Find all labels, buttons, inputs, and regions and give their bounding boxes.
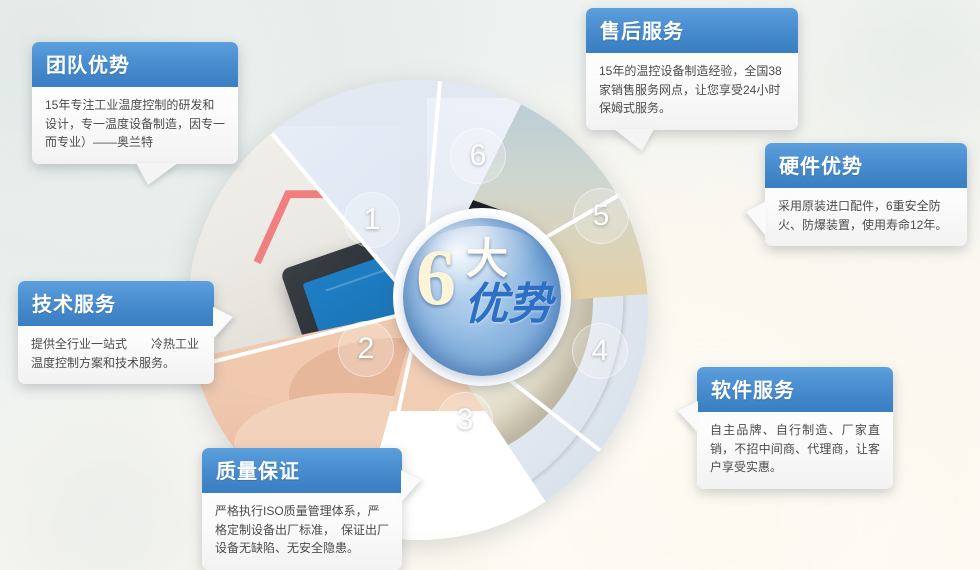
segment-number-5[interactable]: 5 xyxy=(573,188,629,244)
card-software-service[interactable]: 软件服务 自主品牌、自行制造、厂家直销，不招中间商、代理商，让客户享受实惠。 xyxy=(697,367,893,489)
card-tail xyxy=(401,470,421,502)
card-after-sales-body: 15年的温控设备制造经验，全国38家销售服务网点，让您享受24小时保姆式服务。 xyxy=(586,53,798,130)
card-quality-body: 严格执行ISO质量管理体系，严格定制设备出厂标准， 保证出厂设备无缺陷、无安全隐… xyxy=(202,493,402,570)
card-hardware-title: 硬件优势 xyxy=(765,143,967,188)
card-technical-service[interactable]: 技术服务 提供全行业一站式 冷热工业温度控制方案和技术服务。 xyxy=(18,281,214,384)
center-number: 6 xyxy=(416,238,456,318)
segment-number-4[interactable]: 4 xyxy=(572,323,628,379)
card-team-body: 15年专注工业温度控制的研发和设计，专一温度设备制造，因专一而专业）——奥兰特 xyxy=(32,87,238,164)
card-tail xyxy=(136,163,178,185)
card-team-advantage[interactable]: 团队优势 15年专注工业温度控制的研发和设计，专一温度设备制造，因专一而专业）—… xyxy=(32,42,238,164)
center-word-label: 优势 xyxy=(464,283,552,327)
segment-number-1[interactable]: 1 xyxy=(344,192,400,248)
card-tail xyxy=(213,307,233,339)
card-technical-title: 技术服务 xyxy=(18,281,214,326)
card-tail xyxy=(746,201,766,236)
card-after-sales-service[interactable]: 售后服务 15年的温控设备制造经验，全国38家销售服务网点，让您享受24小时保姆… xyxy=(586,8,798,130)
card-hardware-advantage[interactable]: 硬件优势 采用原装进口配件，6重安全防火、防爆装置，使用寿命12年。 xyxy=(765,143,967,246)
card-technical-body: 提供全行业一站式 冷热工业温度控制方案和技术服务。 xyxy=(18,326,214,384)
card-quality-assurance[interactable]: 质量保证 严格执行ISO质量管理体系，严格定制设备出厂标准， 保证出厂设备无缺陷… xyxy=(202,448,402,570)
center-unit-label: 大 xyxy=(466,238,508,280)
card-tail xyxy=(614,129,654,151)
card-quality-title: 质量保证 xyxy=(202,448,402,493)
card-hardware-body: 采用原装进口配件，6重安全防火、防爆装置，使用寿命12年。 xyxy=(765,188,967,246)
infographic-canvas: 6 大 优势 1 2 3 4 5 6 团队优势 15年专注工业温度控制的研发和设… xyxy=(0,0,980,570)
segment-number-2[interactable]: 2 xyxy=(338,321,394,377)
card-software-body: 自主品牌、自行制造、厂家直销，不招中间商、代理商，让客户享受实惠。 xyxy=(697,412,893,489)
segment-number-6[interactable]: 6 xyxy=(450,128,506,184)
segment-number-3[interactable]: 3 xyxy=(437,392,493,448)
card-tail xyxy=(678,401,698,433)
card-software-title: 软件服务 xyxy=(697,367,893,412)
card-after-sales-title: 售后服务 xyxy=(586,8,798,53)
card-team-title: 团队优势 xyxy=(32,42,238,87)
